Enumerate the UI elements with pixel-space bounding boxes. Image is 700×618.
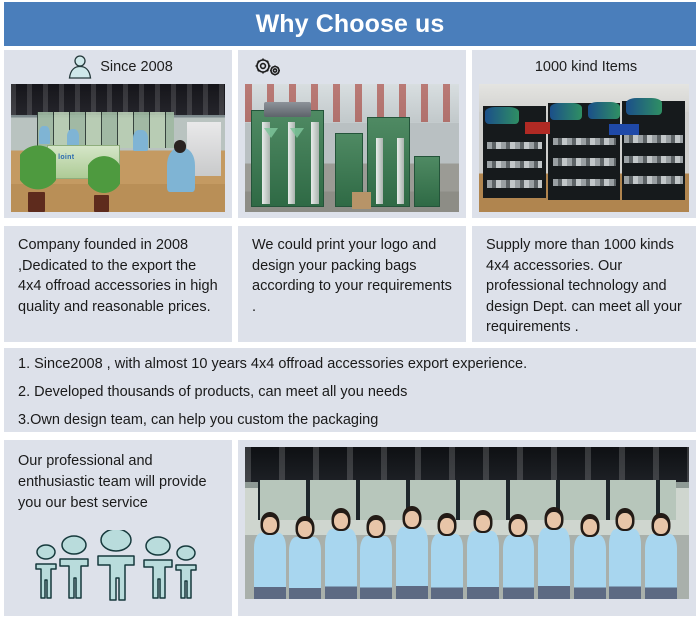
list-item: 3.Own design team, can help you custom t… <box>18 412 696 429</box>
feature-description-panel-1: Company founded in 2008 ,Dedicated to th… <box>4 226 232 342</box>
feature-description-3: Supply more than 1000 kinds 4x4 accessor… <box>486 235 686 338</box>
page-title: Why Choose us <box>256 10 445 39</box>
feature-description-panel-3: Supply more than 1000 kinds 4x4 accessor… <box>472 226 696 342</box>
list-item: 1. Since2008 , with almost 10 years 4x4 … <box>18 356 696 373</box>
feature-caption-2 <box>238 50 466 83</box>
company-team-group-photo <box>245 447 689 599</box>
team-text-panel: Our professional and enthusiastic team w… <box>4 440 232 616</box>
feature-description-1: Company founded in 2008 ,Dedicated to th… <box>18 235 222 317</box>
highlights-panel: 1. Since2008 , with almost 10 years 4x4 … <box>4 348 696 432</box>
person-icon <box>67 55 93 79</box>
feature-caption-label-3: 1000 kind Items <box>535 59 637 75</box>
why-choose-us-banner: Why Choose us Since 2008 loint <box>0 0 700 618</box>
feature-card-1000-items: 1000 kind Items <box>472 50 696 218</box>
team-description: Our professional and enthusiastic team w… <box>18 451 224 514</box>
gears-icon <box>252 56 282 78</box>
hydraulic-press-factory-photo <box>245 84 459 212</box>
feature-card-custom-printing <box>238 50 466 218</box>
feature-description-2: We could print your logo and design your… <box>252 235 456 317</box>
feature-caption-3: 1000 kind Items <box>472 50 696 83</box>
feature-caption-1: Since 2008 <box>4 50 232 83</box>
team-photo-panel <box>238 440 696 616</box>
warehouse-shelves-photo <box>479 84 689 212</box>
banner-header: Why Choose us <box>4 2 696 46</box>
list-item: 2. Developed thousands of products, can … <box>18 384 696 401</box>
office-interior-photo: loint <box>11 84 225 212</box>
people-group-icon <box>16 530 216 602</box>
feature-caption-label-1: Since 2008 <box>100 59 173 75</box>
feature-card-since-2008: Since 2008 loint <box>4 50 232 218</box>
feature-description-panel-2: We could print your logo and design your… <box>238 226 466 342</box>
